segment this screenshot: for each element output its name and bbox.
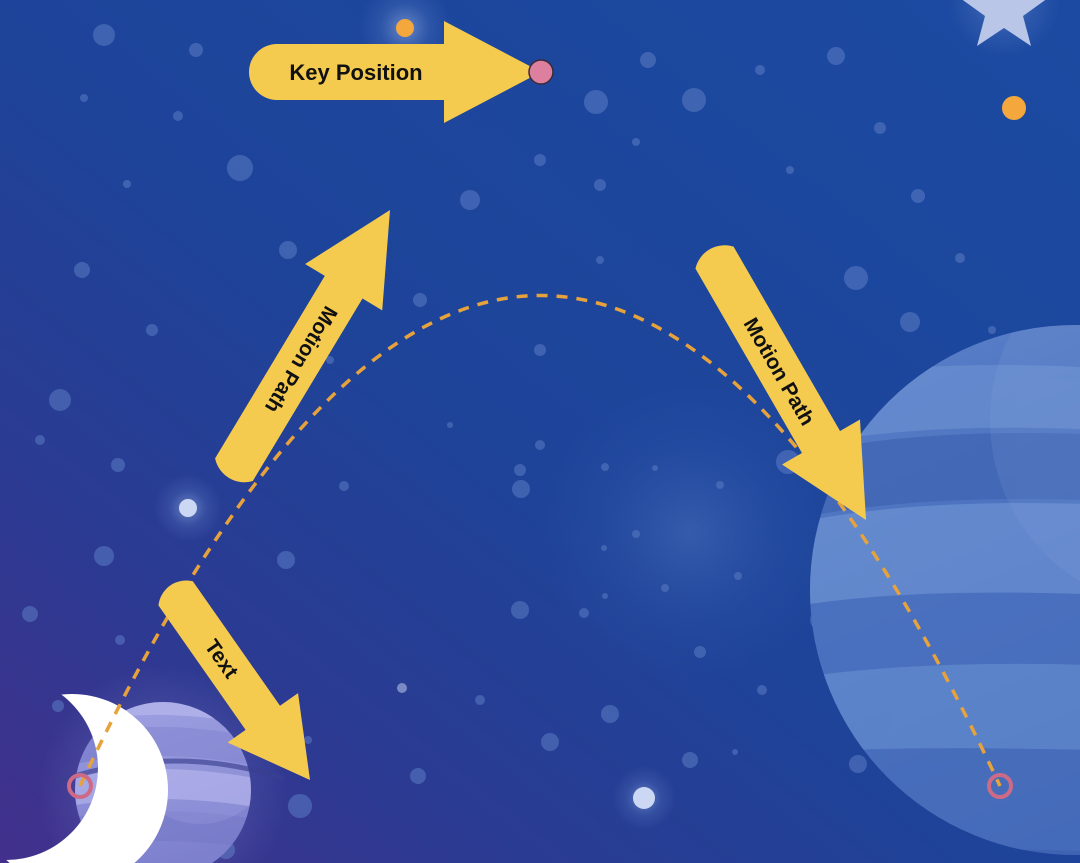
key-position-marker[interactable] <box>529 60 553 84</box>
moon-icon <box>0 680 200 863</box>
bright-dot-left <box>179 499 197 517</box>
scene-canvas: Key Position Motion Path Motion Path Tex… <box>0 0 1080 863</box>
key-position-label: Key Position <box>289 60 422 85</box>
orange-dot-right <box>1002 96 1026 120</box>
annotation-scene-svg: Key Position Motion Path Motion Path Tex… <box>0 0 1080 863</box>
bright-dot-bottom <box>633 787 655 809</box>
orange-dot-top <box>396 19 414 37</box>
